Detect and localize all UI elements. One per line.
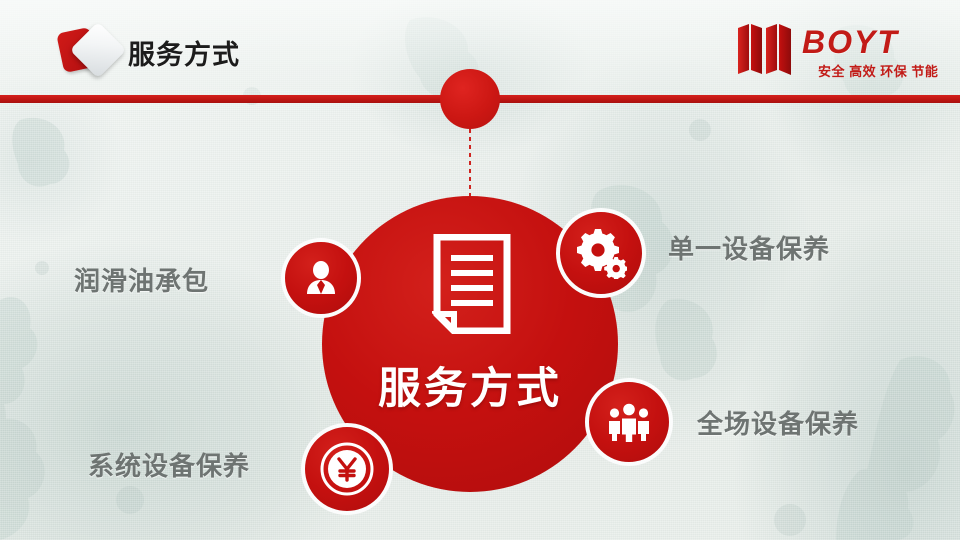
hub-label: 服务方式 — [322, 354, 618, 416]
node-system-device[interactable] — [301, 423, 393, 515]
brand-logo: BOYT 安全 高效 环保 节能 — [736, 20, 936, 84]
document-icon — [432, 234, 512, 334]
node-label-full-site: 全场设备保养 — [697, 404, 859, 441]
businessman-icon — [301, 258, 341, 298]
red-dot-node-icon — [440, 69, 500, 129]
page-title: 服务方式 — [128, 33, 240, 72]
diamond-logo-icon — [58, 22, 134, 80]
three-people-icon — [606, 402, 652, 442]
node-label-lubricant: 润滑油承包 — [74, 261, 209, 298]
slide-canvas: 服务方式 BOYT 安全 高效 环保 节能 — [0, 0, 960, 540]
gears-icon — [575, 227, 627, 279]
node-label-system-device: 系统设备保养 — [88, 446, 250, 483]
brand-tagline: 安全 高效 环保 节能 — [818, 61, 938, 80]
node-full-site[interactable] — [585, 378, 673, 466]
yen-coin-icon — [318, 440, 376, 498]
node-lubricant[interactable] — [281, 238, 361, 318]
node-single-device[interactable] — [556, 208, 646, 298]
node-label-single-device: 单一设备保养 — [668, 229, 830, 266]
brand-wordmark: BOYT — [802, 24, 899, 61]
boyt-bars-icon — [736, 22, 796, 76]
